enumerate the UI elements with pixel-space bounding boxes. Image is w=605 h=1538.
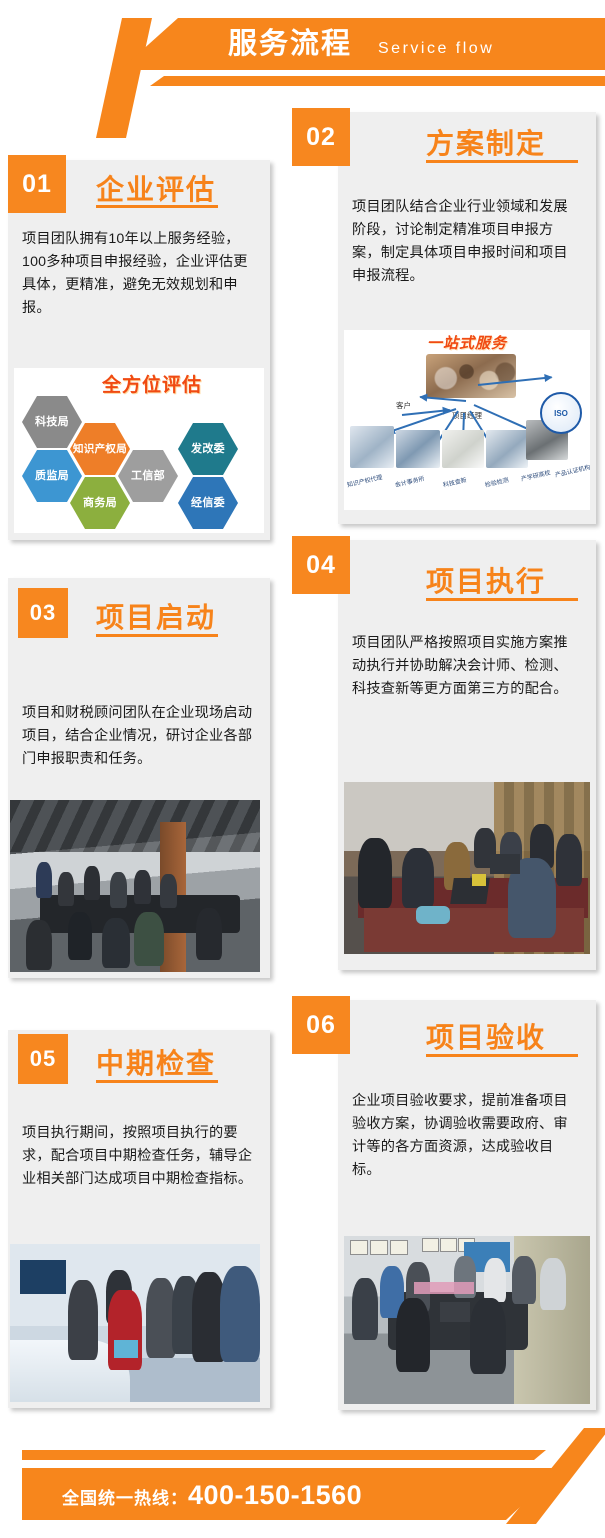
hotline: 全国统一热线：400-150-1560 (62, 1480, 362, 1511)
step-title-rule-05 (96, 1080, 218, 1083)
step-badge-03: 03 (18, 588, 68, 638)
partner-caption-5: 产学研高校 (520, 467, 551, 483)
hexagon-node-keji: 科技局 (22, 396, 82, 448)
hexagon-node-zscq: 知识产权局 (70, 423, 130, 475)
footer-stripe (22, 1450, 546, 1460)
step-title-rule-02 (426, 160, 578, 163)
step-badge-05: 05 (18, 1034, 68, 1084)
partner-caption-3: 科技查新 (442, 475, 467, 489)
hexagon-node-label: 科技局 (35, 416, 69, 428)
one-stop-title: 一站式服务 (427, 332, 507, 353)
hexagon-chart-title: 全方位评估 (102, 370, 202, 397)
hexagon-node-jingxin: 经信委 (178, 477, 238, 529)
hexagon-node-label: 商务局 (83, 497, 117, 509)
partner-thumb-2 (396, 430, 440, 468)
step-title-03: 项目启动 (96, 596, 216, 636)
partner-caption-6: 产品认证机构 (554, 462, 590, 479)
hexagon-node-label: 发改委 (191, 443, 225, 455)
iso-certification-badge: ISO (540, 392, 582, 434)
partner-thumb-4 (486, 430, 528, 468)
step-body-05: 项目执行期间，按照项目执行的要求，配合项目中期检查任务，辅导企业相关部门达成项目… (22, 1122, 254, 1191)
photo-boardroom (344, 1236, 590, 1404)
hexagon-node-zhijian: 质监局 (22, 450, 82, 502)
header-stripe (150, 76, 605, 86)
step-body-01: 项目团队拥有10年以上服务经验，100多种项目申报经验，企业评估更具体，更精准，… (22, 228, 254, 320)
header-banner (120, 18, 605, 70)
step-title-rule-01 (96, 205, 218, 208)
partner-thumb-3 (442, 430, 484, 468)
hexagon-chart: 全方位评估 科技局 知识产权局 质监局 工信部 商务局 发改委 经信委 (14, 368, 264, 533)
step-title-rule-04 (426, 598, 578, 601)
step-body-02: 项目团队结合企业行业领域和发展阶段，讨论制定精准项目申报方案，制定具体项目申报时… (352, 196, 582, 288)
step-body-06: 企业项目验收要求，提前准备项目验收方案，协调验收需要政府、审计等的各方面资源，达… (352, 1090, 582, 1182)
hexagon-node-label: 工信部 (131, 470, 165, 482)
step-title-rule-03 (96, 634, 218, 637)
photo-worksession (344, 782, 590, 954)
hotline-label: 全国统一热线： (62, 1489, 188, 1508)
page-subtitle: Service flow (378, 34, 494, 64)
one-stop-client-label: 客户 (396, 400, 411, 411)
hexagon-node-shangwu: 商务局 (70, 477, 130, 529)
step-title-06: 项目验收 (426, 1016, 546, 1056)
step-body-03: 项目和财税顾问团队在企业现场启动项目，结合企业情况，研讨企业各部门申报职责和任务… (22, 702, 254, 771)
step-body-04: 项目团队严格按照项目实施方案推动执行并协助解决会计师、检测、科技查新等更方面第三… (352, 632, 582, 701)
step-title-02: 方案制定 (426, 122, 546, 162)
step-title-05: 中期检查 (96, 1042, 216, 1082)
step-title-04: 项目执行 (426, 560, 546, 600)
photo-showroom-visit (10, 1244, 260, 1402)
hexagon-node-fagai: 发改委 (178, 423, 238, 475)
page-header: 服务流程 Service flow (0, 0, 605, 100)
iso-badge-label: ISO (554, 409, 568, 418)
step-badge-04: 04 (292, 536, 350, 594)
page-footer: 全国统一热线：400-150-1560 (0, 1428, 605, 1538)
hexagon-node-gongxin: 工信部 (118, 450, 178, 502)
step-title-01: 企业评估 (96, 168, 216, 208)
one-stop-service-diagram: 一站式服务 客户 项目经理 ISO 知识产权代理 会计事务所 科技查新 检验检测… (344, 330, 590, 510)
hexagon-node-label: 质监局 (35, 470, 69, 482)
service-flow-infographic: 服务流程 Service flow 01 企业评估 项目团队拥有10年以上服务经… (0, 0, 605, 1538)
partner-thumb-1 (350, 426, 394, 468)
hexagon-node-label: 经信委 (191, 497, 225, 509)
step-badge-01: 01 (8, 155, 66, 213)
photo-meeting-room (10, 800, 260, 972)
step-badge-02: 02 (292, 108, 350, 166)
hotline-number: 400-150-1560 (188, 1480, 362, 1510)
page-title: 服务流程 (228, 24, 352, 64)
partner-caption-2: 会计事务所 (394, 473, 425, 489)
step-badge-06: 06 (292, 996, 350, 1054)
one-stop-hub-photo (426, 354, 516, 398)
step-title-rule-06 (426, 1054, 578, 1057)
hexagon-node-label: 知识产权局 (73, 443, 127, 455)
partner-caption-4: 检验检测 (484, 475, 509, 489)
partner-caption-1: 知识产权代理 (346, 472, 383, 489)
